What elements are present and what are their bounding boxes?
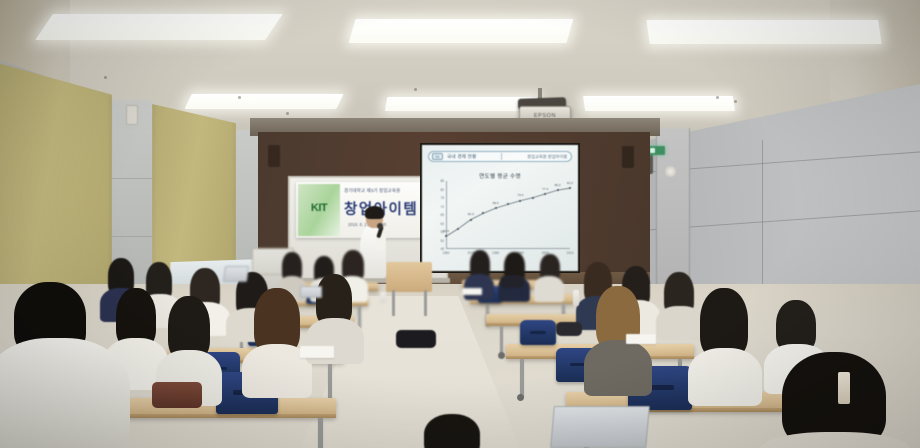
slide-header-badge: 01	[432, 153, 443, 160]
chart-data-label: 69.0	[493, 201, 499, 205]
chart-y-tick-label: 85	[440, 179, 444, 183]
chart-x-tick-label: 2010	[566, 251, 573, 255]
chart-y-tick-label: 65	[440, 213, 444, 217]
chart-y-tick-label: 75	[440, 196, 444, 200]
wall-speaker	[268, 145, 280, 167]
chart-data-point	[482, 212, 484, 214]
desk-leg	[520, 359, 524, 397]
ceiling-light-panel	[35, 14, 283, 40]
chart-data-point	[519, 200, 521, 202]
slide-header-label: 국내 경제 현황	[447, 154, 477, 160]
desk-leg	[318, 418, 323, 448]
chart-data-label: 52.4	[443, 229, 449, 233]
presenter-hair	[365, 206, 384, 219]
slide-header-divider	[501, 153, 502, 160]
podium	[386, 262, 432, 292]
paper-handout	[300, 346, 334, 358]
chart-data-point	[557, 189, 559, 191]
desk-caster	[517, 394, 524, 401]
slide-header-right-label: 창업교육원 창업아이템	[527, 154, 567, 160]
paper-handout	[462, 288, 482, 295]
ceiling-fitting	[414, 88, 417, 91]
banner-logo-text: KIT	[300, 202, 338, 214]
ceiling-light-panel	[385, 97, 537, 111]
water-bottle	[573, 290, 579, 306]
chart-x-tick-label: 1980	[492, 251, 499, 255]
ceiling-light-panel	[646, 20, 881, 44]
chart-data-point	[532, 197, 534, 199]
wall-speaker	[622, 146, 634, 168]
backpack	[396, 330, 436, 348]
chart-y-tick-label: 80	[440, 188, 444, 192]
chart-data-point	[495, 207, 497, 209]
laptop	[300, 286, 322, 298]
chart-data-point	[470, 219, 472, 221]
exit-sign	[648, 146, 665, 155]
chair[interactable]	[520, 320, 556, 345]
ceiling-fitting	[238, 96, 241, 99]
chart-data-point	[457, 228, 459, 230]
projection-screen: 01 국내 경제 현황 창업교육원 창업아이템 연도별 평균 수명 858075…	[420, 143, 580, 273]
chart-data-label: 73.4	[517, 193, 523, 197]
chart-data-label: 62.3	[468, 212, 474, 216]
bag	[556, 322, 582, 336]
microphone-head	[377, 223, 383, 229]
water-bottle	[380, 292, 386, 303]
lecture-hall-scene: EPSON KIT 경기대학교 제3기 창업교육원 창업아이템 2016. 6.…	[0, 0, 920, 448]
chart-line-series	[446, 181, 570, 249]
chart-data-point	[507, 203, 509, 205]
podium-leg	[392, 290, 395, 316]
chart-data-point	[544, 193, 546, 195]
slide-header-bar: 01 국내 경제 현황 창업교육원 창업아이템	[428, 151, 572, 162]
chart-title: 연도별 평균 수명	[422, 172, 578, 180]
wall-seam	[112, 236, 152, 237]
ceiling-fitting	[734, 100, 737, 103]
chart-y-tick-label: 60	[440, 222, 444, 226]
handbag	[152, 382, 202, 408]
chart-y-tick-label: 50	[440, 239, 444, 243]
wall-light-fixture	[665, 166, 676, 177]
podium-leg	[424, 290, 427, 316]
wall-mounted-box	[126, 105, 138, 125]
ceiling-fitting	[104, 76, 107, 79]
chart-y-tick-label: 70	[440, 205, 444, 209]
ceiling-light-panel	[583, 96, 735, 111]
ceiling-fitting	[286, 112, 289, 115]
bag	[500, 276, 524, 288]
desk-leg	[328, 363, 332, 401]
laptop	[550, 406, 650, 448]
chart-data-label: 77.4	[542, 187, 548, 191]
chart-data-point	[569, 187, 571, 189]
paper-handout	[626, 334, 656, 344]
chart-data-label: 80.2	[555, 183, 561, 187]
laptop	[223, 266, 249, 282]
drink-cup	[838, 372, 850, 404]
chart-data-point	[445, 235, 447, 237]
wall-seam	[762, 140, 763, 290]
desk-caster	[498, 352, 505, 359]
chart-x-tick-label: 1960	[442, 251, 449, 255]
window-roller-blind[interactable]	[0, 62, 112, 314]
desk-leg	[500, 326, 503, 354]
chart-data-label: 81.2	[567, 181, 573, 185]
ceiling-light-panel	[349, 19, 574, 43]
ceiling-fitting	[716, 96, 719, 99]
chart-plot-area: 8580757065605550451960197019801990200020…	[446, 181, 570, 249]
wall-seam	[112, 178, 152, 179]
ceiling-light-panel	[184, 94, 343, 109]
slide-surface: 01 국내 경제 현황 창업교육원 창업아이템 연도별 평균 수명 858075…	[422, 145, 578, 271]
